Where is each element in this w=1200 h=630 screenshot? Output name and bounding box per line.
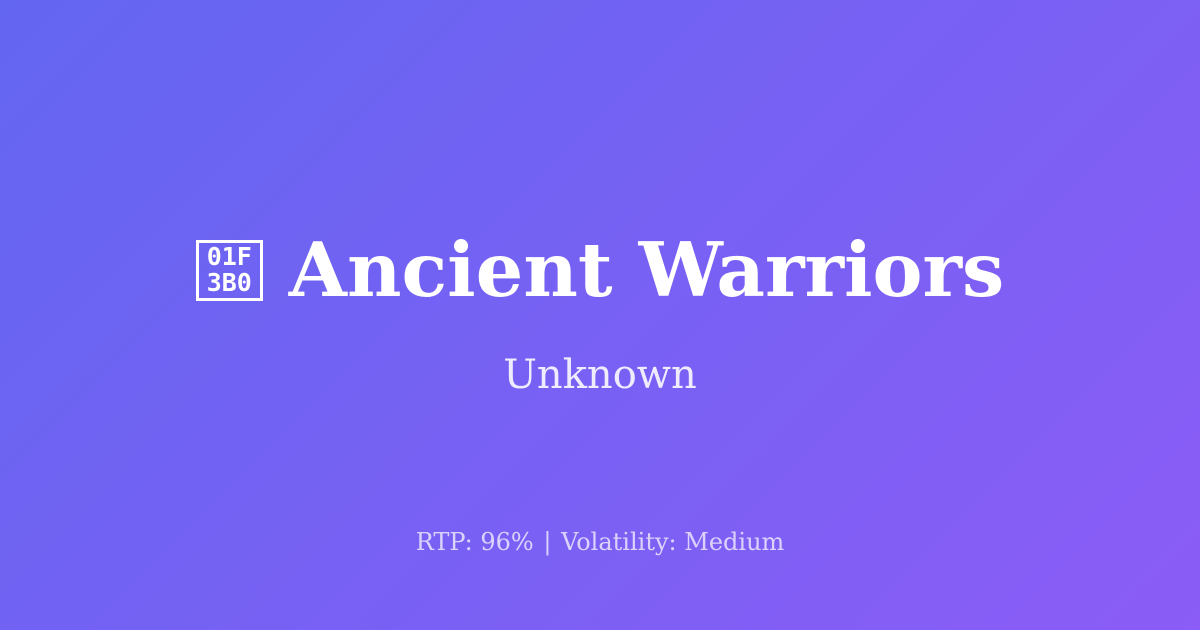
game-meta-line: RTP: 96% | Volatility: Medium [0, 528, 1200, 557]
page-title: Ancient Warriors [289, 231, 1004, 309]
meta-separator: | [541, 528, 553, 556]
rtp-label: RTP: [416, 528, 473, 556]
slot-machine-icon: 01F 3B0 [196, 240, 263, 301]
tofu-codepoint-line-1: 01F [207, 244, 252, 270]
og-preview-card: 01F 3B0 Ancient Warriors Unknown RTP: 96… [0, 0, 1200, 630]
title-row: 01F 3B0 Ancient Warriors [0, 231, 1200, 309]
volatility-value: Medium [684, 528, 784, 556]
tofu-codepoint-line-2: 3B0 [207, 270, 252, 296]
rtp-value: 96% [480, 528, 533, 556]
volatility-label: Volatility: [561, 528, 677, 556]
page-subtitle: Unknown [503, 309, 697, 399]
